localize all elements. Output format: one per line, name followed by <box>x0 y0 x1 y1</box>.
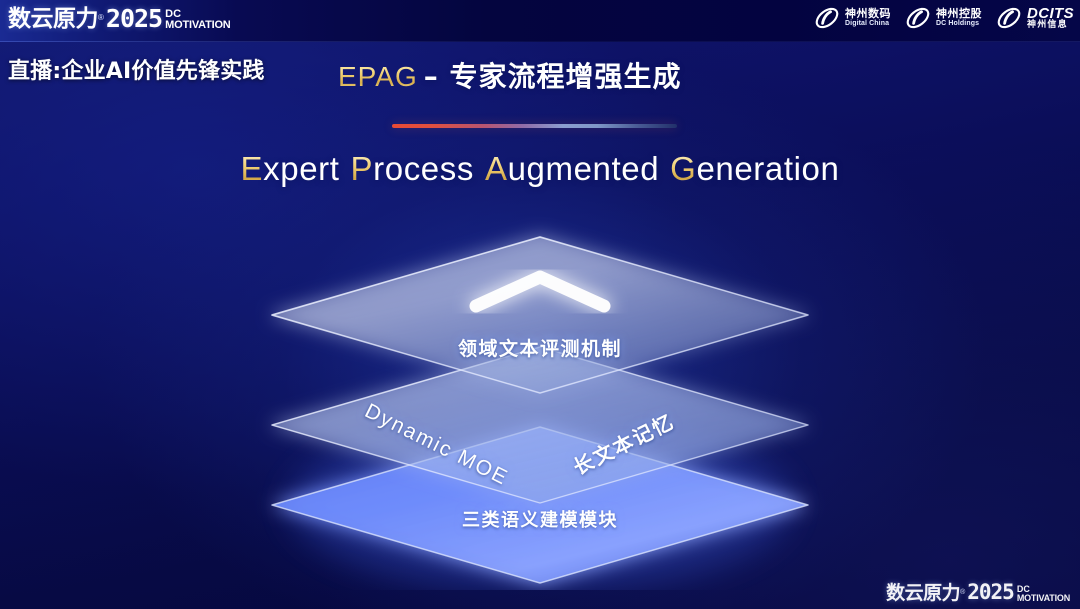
brand-logo-header: 数云原力 ® 2025 DC MOTIVATION <box>8 6 231 31</box>
partner-logo-dcits: DCITS 神州信息 <box>996 5 1074 31</box>
headline-acronym: EPAG <box>338 61 418 92</box>
brand-name-cn: 数云原力 <box>886 584 960 603</box>
divider-gradient-bar <box>392 124 677 128</box>
partner-name-en: DC Holdings <box>936 20 982 28</box>
brand-year: 2025 <box>967 582 1014 603</box>
subtitle-word: Augmented <box>485 150 659 188</box>
partner-label: DCITS 神州信息 <box>1027 6 1074 31</box>
live-broadcast-title: 直播:企业AI价值先锋实践 <box>8 53 265 85</box>
layered-architecture-diagram: 领域文本评测机制 Dynamic MOE 长文本记忆 三类语义建模模块 <box>248 215 832 590</box>
subtitle-word: Process <box>351 150 474 188</box>
subtitle-expansion: ExpertProcessAugmentedGeneration <box>0 150 1080 188</box>
slide-root: 数云原力 ® 2025 DC MOTIVATION 神州数码 Digital C… <box>0 0 1080 609</box>
subtitle-cap: E <box>241 150 264 187</box>
subtitle-word: Expert <box>241 150 340 188</box>
registered-mark-icon: ® <box>98 14 104 22</box>
partner-name-en: Digital China <box>845 20 891 28</box>
partner-name-cn: 神州信息 <box>1027 21 1074 31</box>
partner-label: 神州控股 DC Holdings <box>936 8 982 27</box>
subtitle-cap: A <box>485 150 508 187</box>
diagram-svg <box>248 215 832 590</box>
brand-motivation: MOTIVATION <box>1017 594 1070 603</box>
headline-text: – 专家流程增强生成 <box>424 60 682 93</box>
partner-name-en: DCITS <box>1027 6 1074 21</box>
subtitle-cap: P <box>351 150 374 187</box>
page-title: EPAG– 专家流程增强生成 <box>338 55 681 95</box>
brand-dc-motivation: DC MOTIVATION <box>1017 585 1070 603</box>
partner-logo-group: 神州数码 Digital China 神州控股 DC Holdings <box>814 5 1074 31</box>
partner-logo-dc-holdings: 神州控股 DC Holdings <box>905 5 982 31</box>
diagram-layer-top <box>272 237 808 393</box>
swoosh-logo-icon <box>996 5 1022 31</box>
brand-motivation: MOTIVATION <box>165 20 230 31</box>
swoosh-logo-icon <box>814 5 840 31</box>
subtitle-word: Generation <box>670 150 839 188</box>
partner-logo-digital-china: 神州数码 Digital China <box>814 5 891 31</box>
swoosh-logo-icon <box>905 5 931 31</box>
partner-name-cn: 神州数码 <box>845 8 891 20</box>
subtitle-rest: rocess <box>373 150 474 187</box>
partner-name-cn: 神州控股 <box>936 8 982 20</box>
subtitle-rest: eneration <box>696 150 839 187</box>
subtitle-rest: xpert <box>263 150 339 187</box>
registered-mark-icon: ® <box>960 589 965 596</box>
top-bar: 数云原力 ® 2025 DC MOTIVATION 神州数码 Digital C… <box>0 0 1080 42</box>
subtitle-cap: G <box>670 150 696 187</box>
brand-logo-watermark: 数云原力 ® 2025 DC MOTIVATION <box>886 582 1070 603</box>
subtitle-rest: ugmented <box>508 150 660 187</box>
partner-label: 神州数码 Digital China <box>845 8 891 27</box>
brand-year: 2025 <box>106 6 162 31</box>
brand-name-cn: 数云原力 <box>8 8 98 31</box>
brand-dc-motivation: DC MOTIVATION <box>165 9 230 31</box>
